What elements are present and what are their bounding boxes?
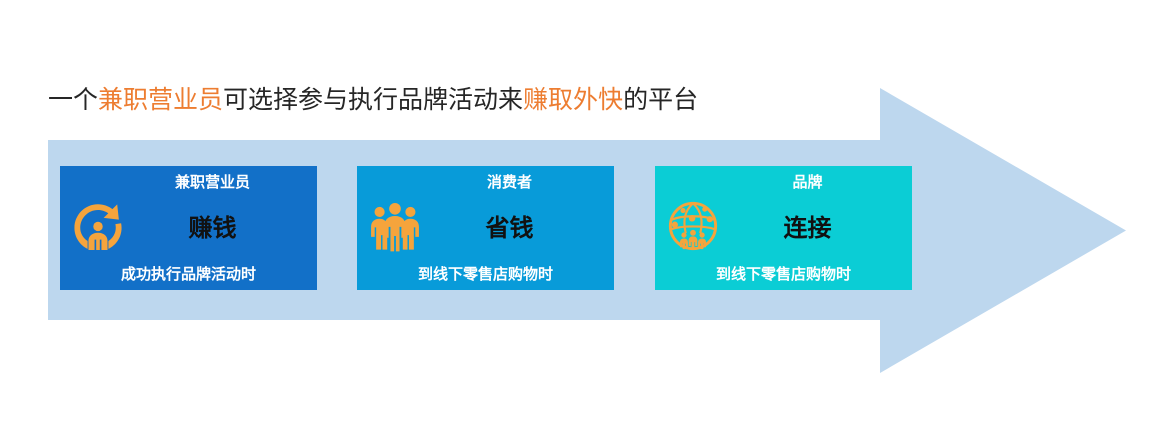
headline-segment-0: 一个 bbox=[48, 87, 98, 114]
card-footer-label: 到线下零售店购物时 bbox=[665, 265, 902, 285]
slide-canvas: 一个兼职营业员可选择参与执行品牌活动来赚取外快的平台 兼职营业员 赚钱 成功执行… bbox=[0, 0, 1150, 430]
value-card-parttime-promoter[interactable]: 兼职营业员 赚钱 成功执行品牌活动时 bbox=[60, 166, 317, 290]
value-card-brand[interactable]: 品牌 连接 到线下零售店购物时 bbox=[655, 166, 912, 290]
card-main-label: 连接 bbox=[713, 214, 902, 244]
headline-segment-1: 兼职营业员 bbox=[98, 87, 223, 114]
value-card-consumer[interactable]: 消费者 省钱 到线下零售店购物时 bbox=[357, 166, 614, 290]
headline-segment-4: 的平台 bbox=[623, 87, 698, 114]
headline-segment-2: 可选择参与执行品牌活动来 bbox=[223, 87, 523, 114]
page-title: 一个兼职营业员可选择参与执行品牌活动来赚取外快的平台 bbox=[48, 86, 698, 116]
card-main-label: 赚钱 bbox=[118, 214, 307, 244]
card-main-label: 省钱 bbox=[415, 214, 604, 244]
headline-segment-3: 赚取外快 bbox=[523, 87, 623, 114]
card-footer-label: 到线下零售店购物时 bbox=[367, 265, 604, 285]
card-header-label: 品牌 bbox=[713, 173, 902, 193]
card-header-label: 兼职营业员 bbox=[118, 173, 307, 193]
card-footer-label: 成功执行品牌活动时 bbox=[70, 265, 307, 285]
card-header-label: 消费者 bbox=[415, 173, 604, 193]
